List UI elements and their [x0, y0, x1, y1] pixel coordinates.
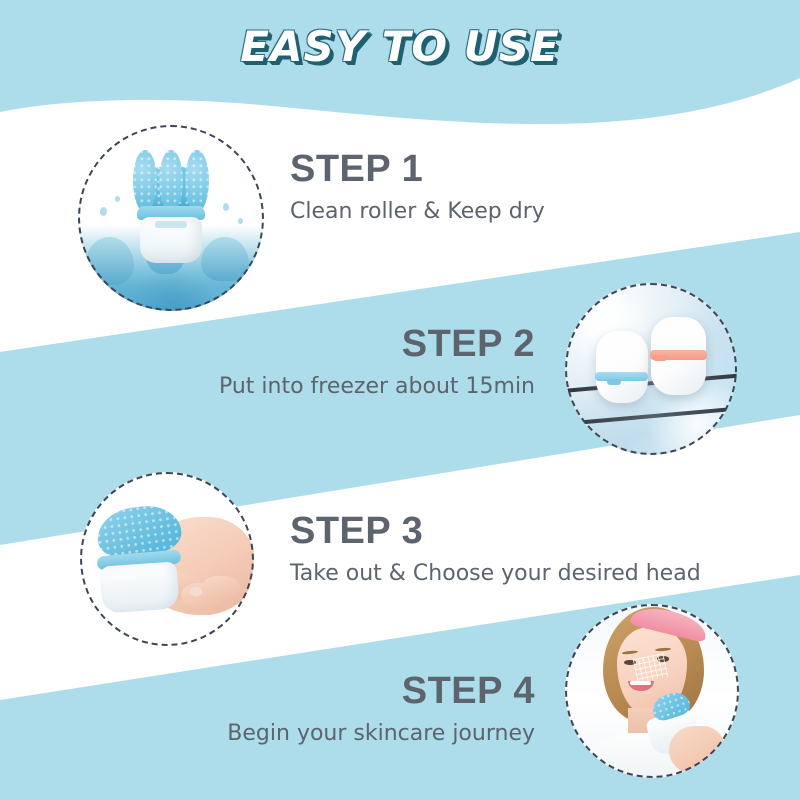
hand-holding-roller-illustration — [80, 472, 254, 646]
step-3-photo-inner — [80, 472, 254, 646]
ice-roller-device — [136, 166, 207, 263]
step-1-photo — [78, 125, 264, 311]
water-drop-3 — [223, 203, 229, 211]
step-3-text-block: STEP 3 Take out & Choose your desired he… — [290, 512, 750, 588]
freezer-devices-illustration — [565, 283, 737, 455]
step-4-text-block: STEP 4 Begin your skincare journey — [120, 672, 535, 748]
step-4-description: Begin your skincare journey — [120, 720, 535, 749]
page-title: EASY TO USE — [240, 22, 560, 71]
water-drop-1 — [100, 207, 107, 216]
water-drop-2 — [115, 196, 120, 202]
step-2-heading: STEP 2 — [120, 325, 535, 365]
step-2-photo-inner — [565, 283, 737, 455]
ice-roller-device — [97, 507, 181, 611]
roller-lobe-center — [159, 150, 183, 212]
infographic-page: EASY TO USE — [0, 0, 800, 800]
step-4-photo — [565, 604, 739, 778]
roller-body — [99, 562, 179, 614]
device-blue-band — [595, 372, 648, 381]
device-blue-tab — [607, 379, 620, 386]
step-1-description: Clean roller & Keep dry — [290, 198, 710, 227]
step-4-photo-inner — [565, 604, 739, 778]
woman-using-roller-illustration — [565, 604, 739, 778]
roller-lobe-left — [133, 150, 157, 212]
step-1-heading: STEP 1 — [290, 150, 710, 190]
step-3-heading: STEP 3 — [290, 512, 750, 552]
water-drop-4 — [238, 218, 243, 224]
step-4-heading: STEP 4 — [120, 672, 535, 712]
step-3-photo — [80, 472, 254, 646]
device-coral-tab — [653, 355, 667, 362]
ice-roller-water-splash-illustration — [78, 125, 264, 311]
finger-3 — [202, 576, 240, 599]
step-1-photo-inner — [78, 125, 264, 311]
roller-lobe-right — [185, 150, 209, 212]
step-2-photo — [565, 283, 737, 455]
step-2-text-block: STEP 2 Put into freezer about 15min — [120, 325, 535, 401]
roller-logo-band — [155, 221, 186, 228]
device-blue — [596, 331, 648, 403]
device-coral — [651, 317, 706, 394]
step-3-description: Take out & Choose your desired head — [290, 560, 750, 589]
hand — [669, 726, 725, 775]
fingernail-2 — [190, 587, 202, 596]
step-1-text-block: STEP 1 Clean roller & Keep dry — [290, 150, 710, 226]
step-2-description: Put into freezer about 15min — [120, 373, 535, 402]
teeth — [630, 681, 651, 685]
page-title-wrap: EASY TO USE — [0, 22, 800, 71]
